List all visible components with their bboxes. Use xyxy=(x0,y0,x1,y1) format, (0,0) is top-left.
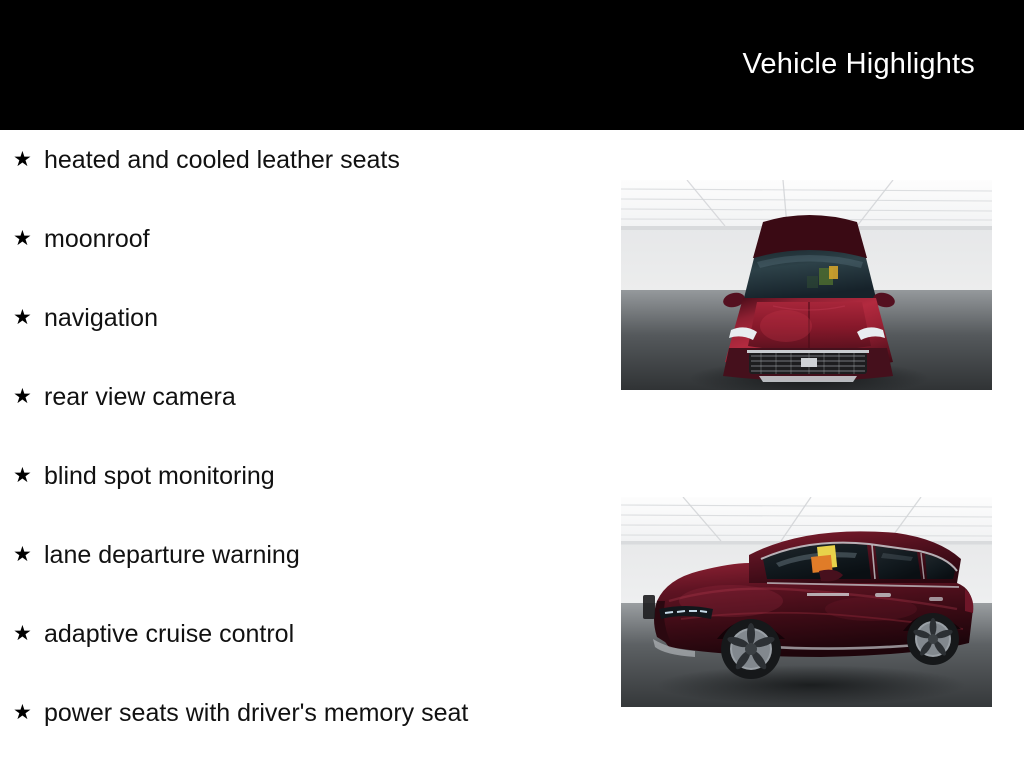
feature-label: blind spot monitoring xyxy=(44,461,275,491)
vehicle-photo-side xyxy=(621,497,992,707)
vehicle-photo-front xyxy=(621,180,992,390)
vehicle-features-list: ★ heated and cooled leather seats ★ moon… xyxy=(0,145,610,777)
feature-label: adaptive cruise control xyxy=(44,619,294,649)
feature-label: lane departure warning xyxy=(44,540,300,570)
star-bullet-icon: ★ xyxy=(13,382,44,412)
star-bullet-icon: ★ xyxy=(13,540,44,570)
header-band: Vehicle Highlights xyxy=(0,0,1024,130)
list-item: ★ rear view camera xyxy=(0,382,610,461)
list-item: ★ adaptive cruise control xyxy=(0,619,610,698)
feature-label: moonroof xyxy=(44,224,150,254)
list-item: ★ lane departure warning xyxy=(0,540,610,619)
list-item: ★ navigation xyxy=(0,303,610,382)
star-bullet-icon: ★ xyxy=(13,224,44,254)
list-item: ★ heated and cooled leather seats xyxy=(0,145,610,224)
page-title: Vehicle Highlights xyxy=(742,50,975,79)
list-item: ★ moonroof xyxy=(0,224,610,303)
star-bullet-icon: ★ xyxy=(13,303,44,333)
list-item: ★ power seats with driver's memory seat xyxy=(0,698,610,777)
star-bullet-icon: ★ xyxy=(13,145,44,175)
star-bullet-icon: ★ xyxy=(13,619,44,649)
feature-label: heated and cooled leather seats xyxy=(44,145,400,175)
star-bullet-icon: ★ xyxy=(13,698,44,728)
feature-label: navigation xyxy=(44,303,158,333)
vehicle-front-image xyxy=(621,180,992,390)
vehicle-side-image xyxy=(621,497,992,707)
star-bullet-icon: ★ xyxy=(13,461,44,491)
list-item: ★ blind spot monitoring xyxy=(0,461,610,540)
feature-label: power seats with driver's memory seat xyxy=(44,698,468,728)
feature-label: rear view camera xyxy=(44,382,236,412)
